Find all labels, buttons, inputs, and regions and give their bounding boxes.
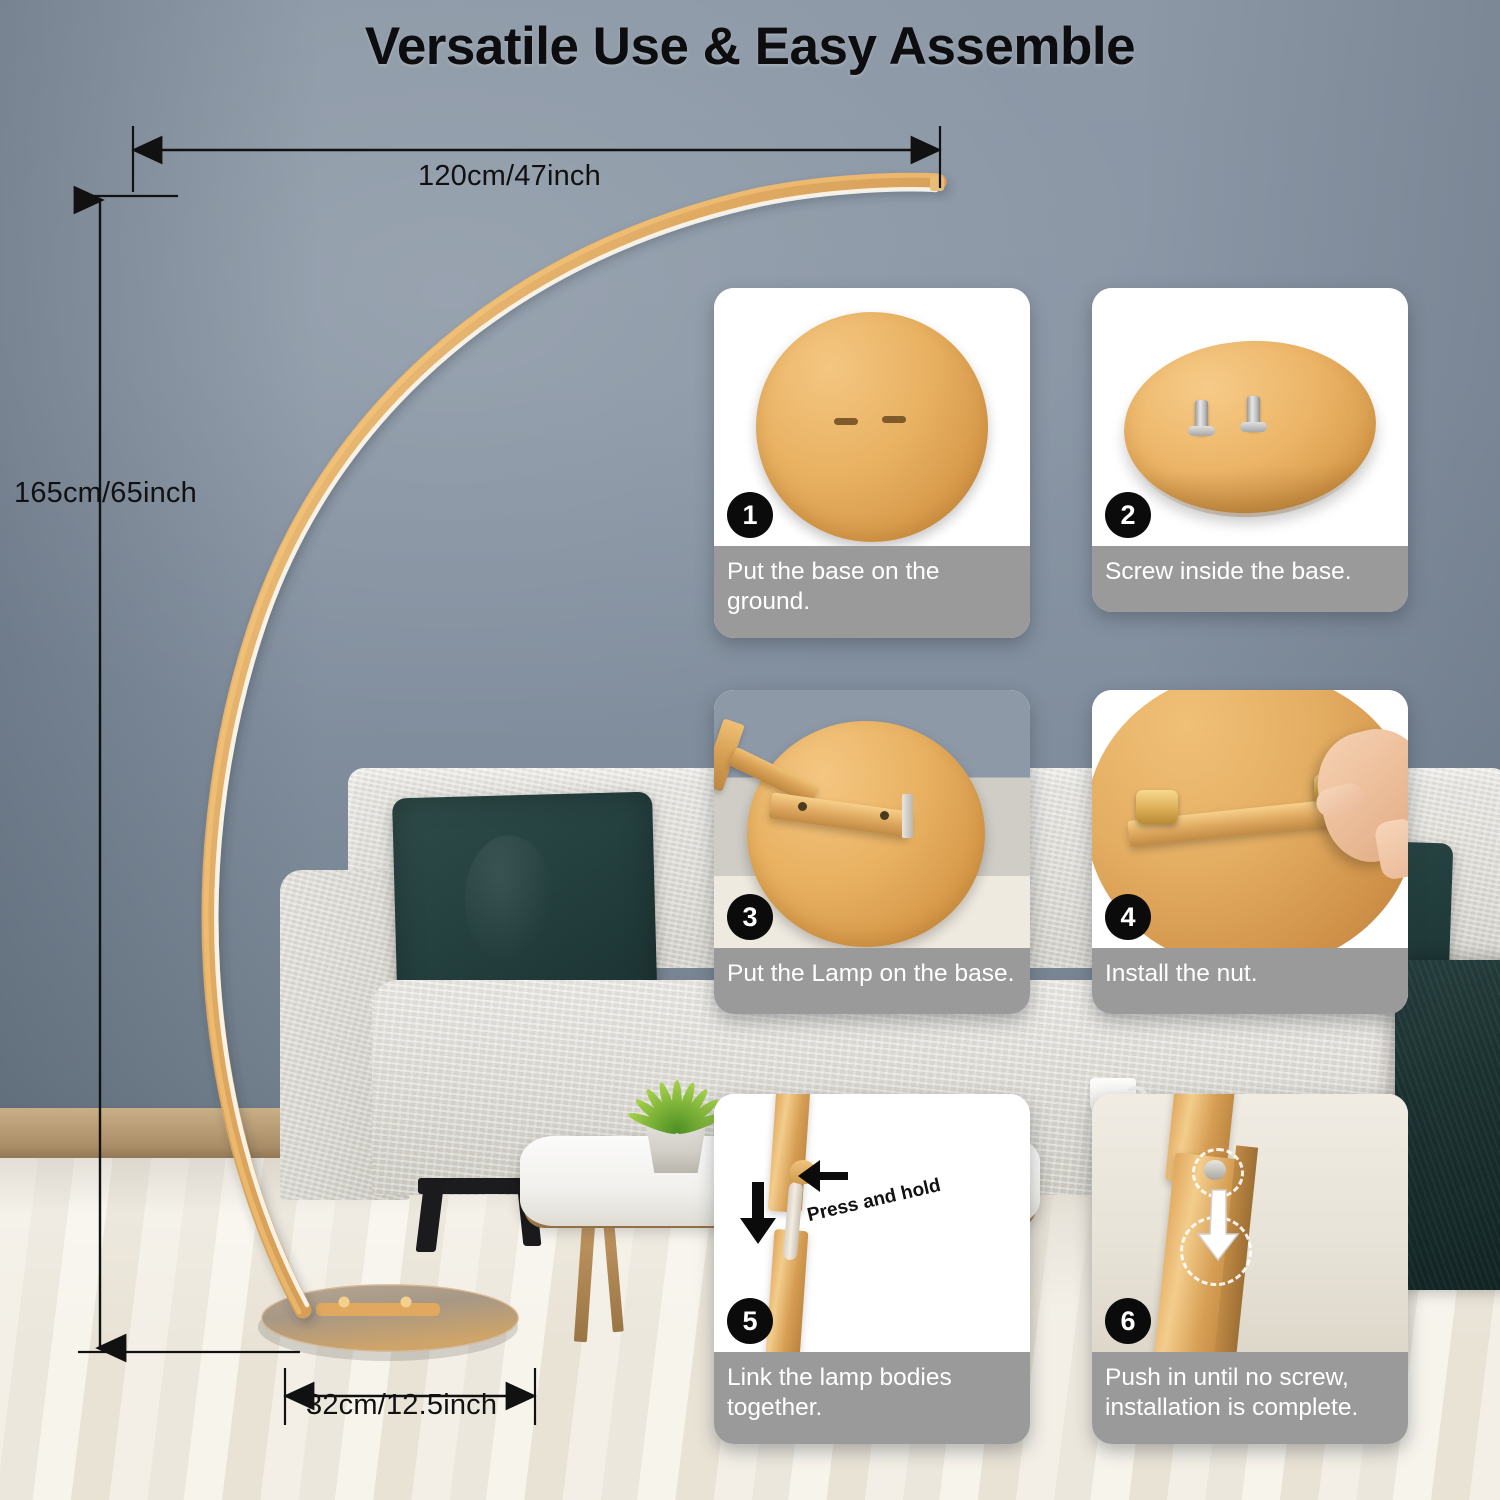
gold-base-disc-icon bbox=[756, 312, 988, 542]
step-badge-2: 2 bbox=[1105, 492, 1151, 538]
gold-base-disc-icon bbox=[747, 721, 985, 947]
step-1-photo: 1 bbox=[714, 288, 1030, 546]
bracket-screw bbox=[880, 811, 889, 820]
gold-nut-icon bbox=[1136, 790, 1178, 824]
step-caption-3: Put the Lamp on the base. bbox=[714, 948, 1030, 1014]
step-caption-2: Screw inside the base. bbox=[1092, 546, 1408, 612]
screw-icon bbox=[1247, 396, 1260, 430]
step-caption-5: Link the lamp bodies together. bbox=[714, 1352, 1030, 1444]
step-card-3[interactable]: 3 Put the Lamp on the base. bbox=[714, 690, 1030, 1014]
base-slot bbox=[882, 416, 906, 423]
step-6-photo: 6 bbox=[1092, 1094, 1408, 1352]
step-card-1[interactable]: 1 Put the base on the ground. bbox=[714, 288, 1030, 638]
down-arrow-icon bbox=[1198, 1190, 1238, 1260]
bracket-end-plate bbox=[902, 794, 913, 838]
base-slot bbox=[834, 418, 858, 425]
step-card-5[interactable]: Press and hold 5 Link the lamp bodies to… bbox=[714, 1094, 1030, 1444]
step-caption-1: Put the base on the ground. bbox=[714, 546, 1030, 638]
step-3-photo: 3 bbox=[714, 690, 1030, 948]
step-card-2[interactable]: 2 Screw inside the base. bbox=[1092, 288, 1408, 612]
step-4-photo: 4 bbox=[1092, 690, 1408, 948]
step-card-4[interactable]: 4 Install the nut. bbox=[1092, 690, 1408, 1014]
assembly-steps-grid: 1 Put the base on the ground. 2 Screw in… bbox=[0, 0, 1500, 1500]
step-caption-6: Push in until no screw, installation is … bbox=[1092, 1352, 1408, 1444]
left-arrow-icon bbox=[798, 1160, 848, 1192]
screw-icon bbox=[1195, 400, 1208, 434]
step-card-6[interactable]: 6 Push in until no screw, installation i… bbox=[1092, 1094, 1408, 1444]
step-badge-6: 6 bbox=[1105, 1298, 1151, 1344]
step-5-photo: Press and hold 5 bbox=[714, 1094, 1030, 1352]
step-caption-4: Install the nut. bbox=[1092, 948, 1408, 1014]
step-badge-3: 3 bbox=[727, 894, 773, 940]
product-infographic: 120cm/47inch 165cm/65inch 32cm/12.5inch … bbox=[0, 0, 1500, 1500]
step-badge-4: 4 bbox=[1105, 894, 1151, 940]
step-badge-5: 5 bbox=[727, 1298, 773, 1344]
step-badge-1: 1 bbox=[727, 492, 773, 538]
down-arrow-icon bbox=[740, 1182, 776, 1244]
bracket-screw bbox=[798, 802, 807, 811]
step-2-photo: 2 bbox=[1092, 288, 1408, 546]
